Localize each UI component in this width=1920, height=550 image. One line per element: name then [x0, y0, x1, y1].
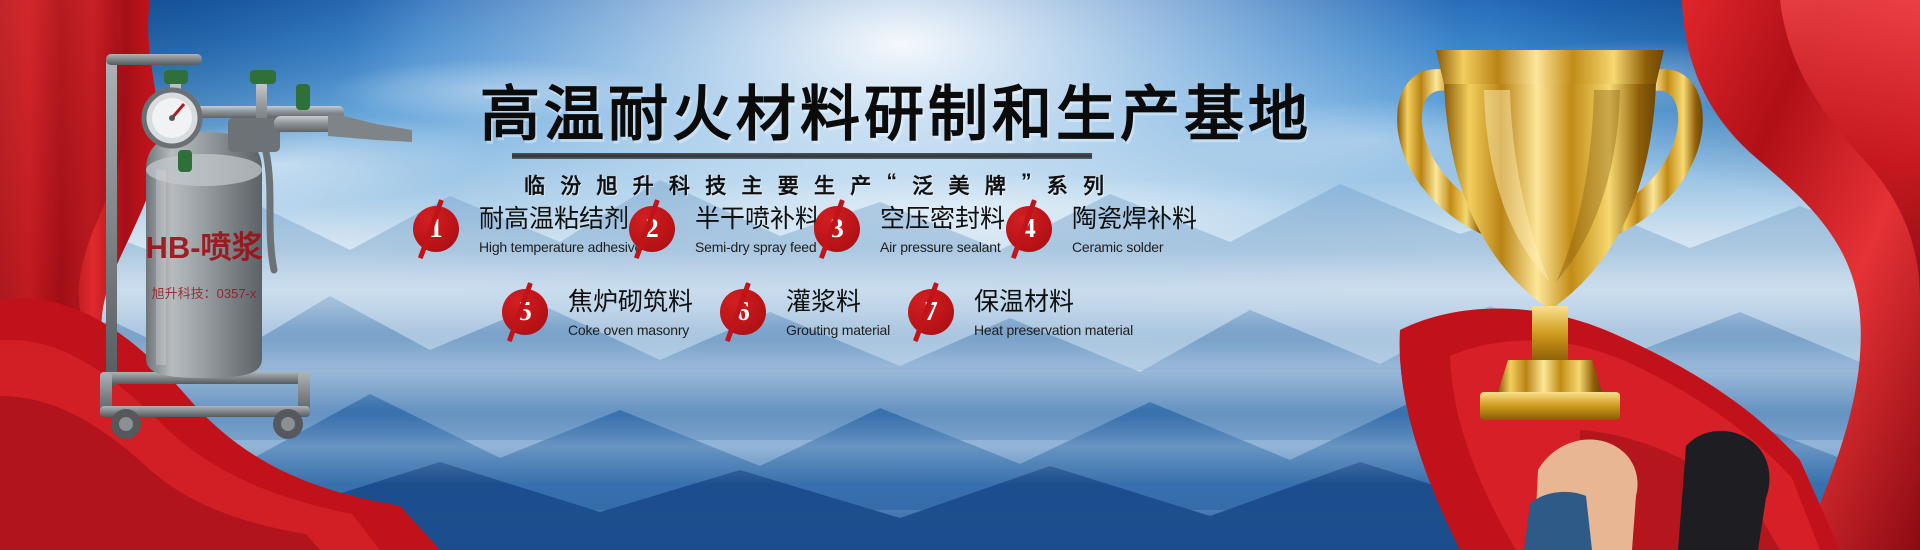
- feature-label-en: Grouting material: [786, 320, 890, 340]
- feature-text: 耐高温粘结剂 High temperature adhesive: [479, 205, 642, 257]
- feature-item-5[interactable]: 5 焦炉砌筑料 Coke oven masonry: [502, 288, 693, 344]
- number-badge-icon: 7: [908, 289, 954, 335]
- number-badge-icon: 5: [502, 289, 548, 335]
- feature-item-2[interactable]: 2 半干喷补料 Semi-dry spray feed: [629, 205, 820, 261]
- feature-item-7[interactable]: 7 保温材料 Heat preservation material: [908, 288, 1133, 344]
- number-badge-icon: 4: [1006, 206, 1052, 252]
- feature-label-en: Air pressure sealant: [880, 237, 1005, 257]
- feature-label-en: Coke oven masonry: [568, 320, 693, 340]
- feature-text: 灌浆料 Grouting material: [786, 288, 890, 340]
- feature-text: 焦炉砌筑料 Coke oven masonry: [568, 288, 693, 340]
- feature-text: 陶瓷焊补料 Ceramic solder: [1072, 205, 1197, 257]
- banner-copy: 高温耐火材料研制和生产基地 临 汾 旭 升 科 技 主 要 生 产 “ 泛 美 …: [0, 0, 1920, 550]
- feature-item-4[interactable]: 4 陶瓷焊补料 Ceramic solder: [1006, 205, 1197, 261]
- feature-label-cn: 耐高温粘结剂: [479, 205, 642, 234]
- number-badge-icon: 6: [720, 289, 766, 335]
- feature-label-cn: 空压密封料: [880, 205, 1005, 234]
- number-badge-icon: 2: [629, 206, 675, 252]
- feature-label-cn: 焦炉砌筑料: [568, 288, 693, 317]
- feature-label-cn: 保温材料: [974, 288, 1133, 317]
- feature-label-en: Semi-dry spray feed: [695, 237, 820, 257]
- number-badge-icon: 1: [413, 206, 459, 252]
- feature-item-1[interactable]: 1 耐高温粘结剂 High temperature adhesive: [413, 205, 642, 261]
- feature-list: 1 耐高温粘结剂 High temperature adhesive 2 半干喷…: [0, 0, 1920, 550]
- feature-item-6[interactable]: 6 灌浆料 Grouting material: [720, 288, 890, 344]
- feature-label-cn: 灌浆料: [786, 288, 890, 317]
- feature-label-cn: 半干喷补料: [695, 205, 820, 234]
- feature-label-en: Ceramic solder: [1072, 237, 1197, 257]
- feature-text: 空压密封料 Air pressure sealant: [880, 205, 1005, 257]
- feature-label-en: High temperature adhesive: [479, 237, 642, 257]
- feature-text: 半干喷补料 Semi-dry spray feed: [695, 205, 820, 257]
- feature-text: 保温材料 Heat preservation material: [974, 288, 1133, 340]
- feature-label-cn: 陶瓷焊补料: [1072, 205, 1197, 234]
- feature-item-3[interactable]: 3 空压密封料 Air pressure sealant: [814, 205, 1005, 261]
- feature-label-en: Heat preservation material: [974, 320, 1133, 340]
- number-badge-icon: 3: [814, 206, 860, 252]
- hero-banner: HB-喷浆 旭升科技：0357-x: [0, 0, 1920, 550]
